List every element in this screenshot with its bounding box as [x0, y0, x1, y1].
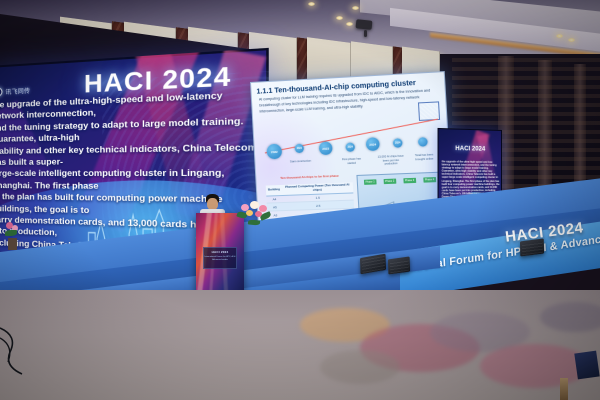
campus-tag: Phase 2	[384, 179, 396, 184]
screen-logo: 讯飞同传	[0, 86, 30, 97]
campus-tag: Phase 4	[423, 177, 435, 182]
timeline-node: 2024	[393, 138, 403, 148]
monitor-grill	[361, 255, 384, 272]
screen-logo-text: 讯飞同传	[5, 86, 30, 96]
ceiling-downlight-icon	[352, 6, 359, 10]
flower-blossom	[246, 210, 253, 216]
timeline-node: 2024	[345, 142, 355, 152]
conference-stage-photo: 讯飞同传 HACI 2024 the upgrade of the ultra-…	[0, 0, 600, 400]
floor-cables	[0, 318, 60, 378]
hall-floor-carpet	[0, 290, 600, 400]
side-screen-title: HACI 2024	[455, 146, 485, 153]
projector-mount	[364, 30, 367, 37]
ceiling-downlight-icon	[336, 16, 343, 20]
timeline-node	[418, 137, 428, 147]
timeline-caption: Total has been brought online	[410, 153, 438, 162]
ceiling-downlight-icon	[568, 38, 575, 42]
podium-nameplate: HACI 2024 International Forum for HPC, A…	[203, 247, 237, 269]
plant-pot	[8, 238, 17, 250]
flower-blossom	[255, 211, 262, 217]
flower-blossom	[250, 201, 259, 209]
campus-tag: Phase 1	[364, 179, 376, 184]
carpet-pattern	[320, 350, 400, 384]
projector-icon	[356, 19, 373, 30]
timeline-caption: 13,000 AI chips have been put into produ…	[377, 155, 405, 167]
potted-plant	[4, 222, 20, 252]
timeline-caption: First phase has started	[338, 157, 365, 165]
monitor-grill	[521, 240, 542, 255]
podium-plate-title: HACI 2024	[204, 250, 236, 254]
podium-plate-subtitle: International Forum for HPC, AI & Advanc…	[204, 256, 236, 262]
carpet-pattern	[480, 344, 590, 388]
flower-leaf	[248, 219, 260, 225]
flower-arrangement	[236, 198, 272, 228]
ceiling-downlight-icon	[346, 22, 353, 26]
ceiling-downlight-icon	[308, 2, 315, 6]
caption-line: large-scale intelligent computing cluste…	[0, 167, 264, 194]
timeline-node: 2024	[366, 137, 380, 151]
plant-leaf	[5, 230, 17, 236]
monitor-grill	[389, 258, 408, 273]
stage-floor-monitor	[520, 238, 544, 256]
ceiling-downlight-icon	[556, 34, 563, 38]
table-header: Building	[266, 185, 283, 196]
circle-logo-icon	[0, 87, 2, 96]
stage-floor-monitor	[388, 256, 410, 274]
foreground-post	[560, 378, 568, 400]
campus-tag: Phase 3	[403, 178, 415, 183]
caption-line: stability and other key technical indica…	[0, 141, 264, 169]
carpet-pattern	[540, 302, 600, 332]
foreground-flag	[574, 351, 599, 380]
